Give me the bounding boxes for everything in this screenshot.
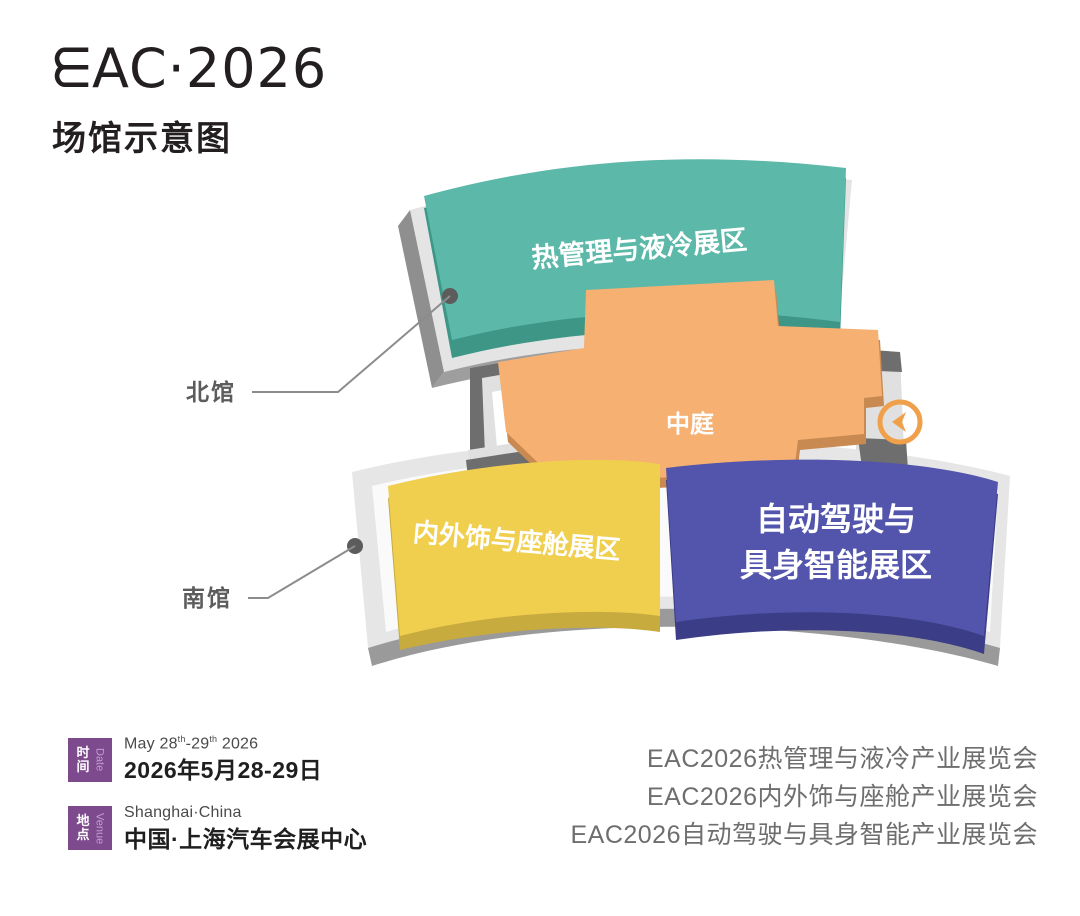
date-texts: May 28th-29th 2026 2026年5月28-29日 [124, 734, 322, 785]
venue-en: Shanghai·China [124, 803, 367, 823]
eac-logo: ᗴAC·2026 [52, 42, 472, 96]
date-en-mid: -29 [186, 735, 210, 752]
venue-texts: Shanghai·China 中国·上海汽车会展中心 [124, 803, 367, 854]
date-badge: 时 间 Date [68, 738, 112, 782]
callout-south-label: 南馆 [182, 585, 232, 611]
venue-map: 热管理与液冷展区 中庭 内外饰与座舱展区 自动驾驶与 具身智能展区 北馆 [0, 150, 1080, 710]
expo-line: EAC2026内外饰与座舱产业展览会 [570, 778, 1038, 816]
date-badge-en: Date [94, 748, 105, 771]
event-info-blocks: 时 间 Date May 28th-29th 2026 2026年5月28-29… [68, 734, 488, 872]
south-east-hall-label-line1: 自动驾驶与 [756, 501, 916, 537]
date-cn: 2026年5月28-29日 [124, 756, 322, 785]
info-row-date: 时 间 Date May 28th-29th 2026 2026年5月28-29… [68, 734, 488, 785]
page-header: ᗴAC·2026 场馆示意图 [52, 42, 472, 156]
date-en-prefix: May 28 [124, 735, 178, 752]
page-footer: 时 间 Date May 28th-29th 2026 2026年5月28-29… [0, 716, 1080, 916]
expo-line: EAC2026自动驾驶与具身智能产业展览会 [570, 816, 1038, 854]
date-badge-cn: 时 间 [76, 746, 91, 774]
expo-line: EAC2026热管理与液冷产业展览会 [570, 740, 1038, 778]
info-row-venue: 地 点 Venue Shanghai·China 中国·上海汽车会展中心 [68, 803, 488, 854]
expo-title-list: EAC2026热管理与液冷产业展览会 EAC2026内外饰与座舱产业展览会 EA… [570, 740, 1038, 854]
venue-cn: 中国·上海汽车会展中心 [124, 825, 367, 854]
callout-south-leader [248, 546, 355, 598]
south-east-hall-label-line2: 具身智能展区 [740, 547, 932, 583]
venue-badge: 地 点 Venue [68, 806, 112, 850]
date-en-suffix: 2026 [217, 735, 258, 752]
venue-badge-cn: 地 点 [76, 814, 91, 842]
atrium-label: 中庭 [666, 410, 714, 438]
date-en-sup1: th [178, 734, 186, 744]
callout-north-label: 北馆 [186, 379, 236, 405]
venue-badge-en: Venue [94, 813, 105, 844]
date-en: May 28th-29th 2026 [124, 734, 322, 754]
callout-south[interactable]: 南馆 [182, 538, 363, 611]
